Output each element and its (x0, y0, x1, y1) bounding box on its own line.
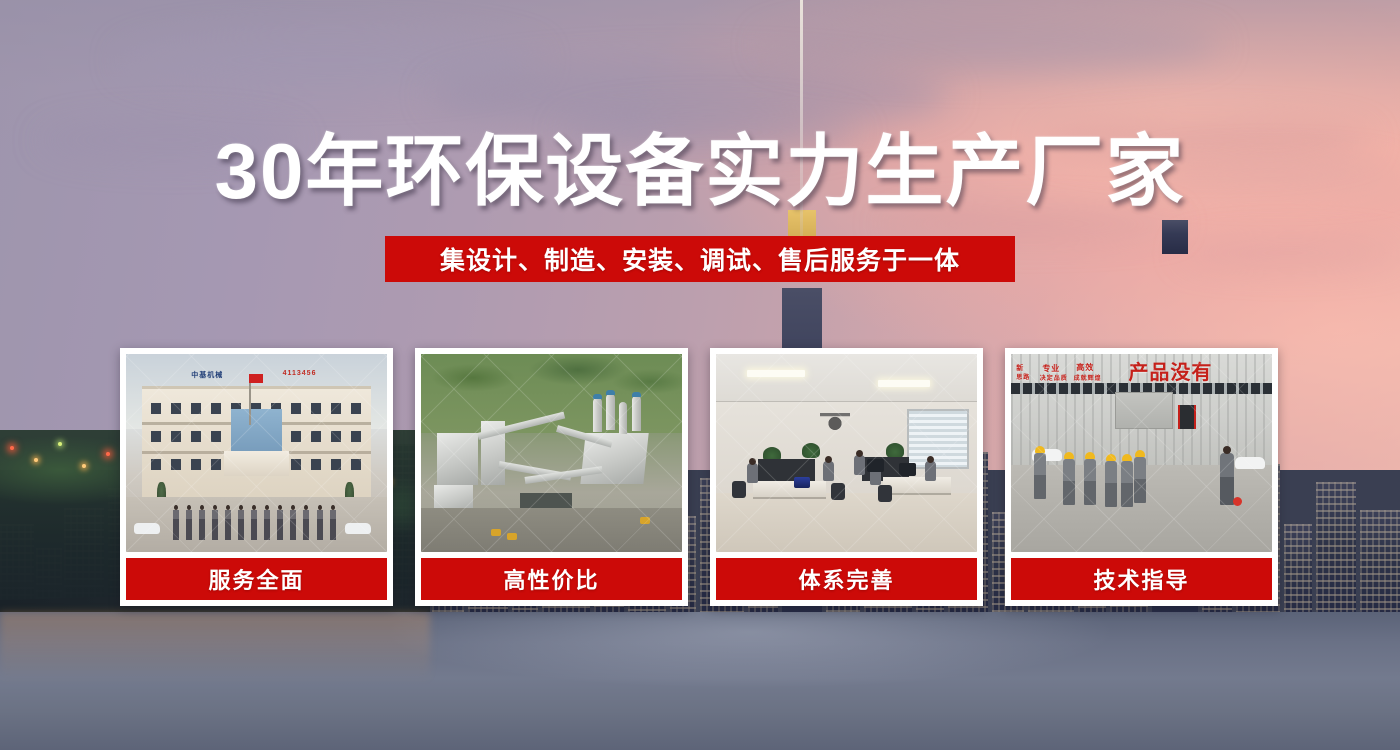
factory-banner-text: 产品没有 (1128, 356, 1212, 385)
river-water (0, 612, 1400, 750)
factory-workers-photo: 产品没有 新 思路 专业 决定品质 高效 成就辉煌 (1011, 354, 1272, 552)
wall-logo (820, 413, 850, 439)
building-phone-text: 4113456 (283, 370, 317, 377)
feature-card[interactable]: 中基机械 4113456 (120, 348, 393, 606)
feature-card-label: 服务全面 (126, 558, 387, 600)
feature-card[interactable]: 体系完善 (710, 348, 983, 606)
subtitle-text: 集设计、制造、安装、调试、售后服务于一体 (440, 241, 960, 277)
feature-card[interactable]: 高性价比 (415, 348, 688, 606)
feature-card-label: 技术指导 (1011, 558, 1272, 600)
building-sign-text: 中基机械 (191, 370, 223, 380)
office-interior-photo (716, 354, 977, 552)
feature-card-label: 高性价比 (421, 558, 682, 600)
page-title: 30年环保设备实力生产厂家 (0, 132, 1400, 210)
company-building-photo: 中基机械 4113456 (126, 354, 387, 552)
subtitle-banner: 集设计、制造、安装、调试、售后服务于一体 (385, 236, 1015, 282)
feature-card-list: 中基机械 4113456 (120, 348, 1280, 606)
promo-banner: 30年环保设备实力生产厂家 集设计、制造、安装、调试、售后服务于一体 (0, 0, 1400, 750)
cloud (760, 18, 1220, 73)
industrial-plant-photo (421, 354, 682, 552)
river-glare (330, 612, 1230, 750)
feature-card-label: 体系完善 (716, 558, 977, 600)
feature-card[interactable]: 产品没有 新 思路 专业 决定品质 高效 成就辉煌 (1005, 348, 1278, 606)
